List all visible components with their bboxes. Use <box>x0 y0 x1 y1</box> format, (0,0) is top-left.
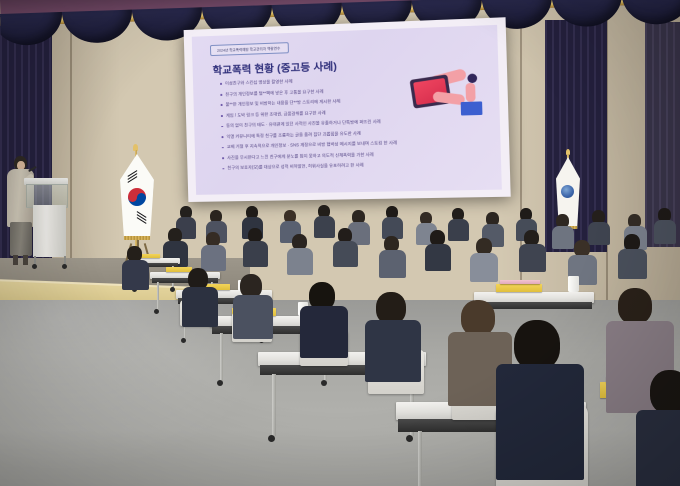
auditorium-photo: 2024년 학교폭력예방 학교관리자 역량연수 학교폭력 현황 (중고등 사례)… <box>0 0 680 486</box>
paper-cup <box>568 276 579 292</box>
slide-bullet: 사진을 무시한다고 느낀 친구에게 분노를 참지 못하고 의도적 신체폭력을 가… <box>222 150 481 160</box>
slide-bullet: 교제 거절 후 지속적으로 개인정보 · SNS 계정으로 비방 협박성 메시지… <box>222 139 481 149</box>
institution-emblem-icon <box>561 185 574 198</box>
slide-header-tag: 2024년 학교폭력예방 학교관리자 역량연수 <box>210 42 289 56</box>
presentation-slide: 2024년 학교폭력예방 학교관리자 역량연수 학교폭력 현황 (중고등 사례)… <box>192 25 502 195</box>
slide-bullet: 친구의 보호자(모)를 대상으로 성적 비하발언, 허위사실을 유포하려고 한 … <box>222 161 481 171</box>
flag-cloth <box>120 154 154 240</box>
podium-lectern <box>24 178 68 264</box>
slide-illustration-icon <box>409 67 485 135</box>
projection-screen: 2024년 학교폭력예방 학교관리자 역량연수 학교폭력 현황 (중고등 사례)… <box>184 17 511 202</box>
booklet-pink <box>500 280 540 284</box>
booklet-yellow <box>496 284 542 292</box>
slide-title: 학교폭력 현황 (중고등 사례) <box>212 58 337 77</box>
